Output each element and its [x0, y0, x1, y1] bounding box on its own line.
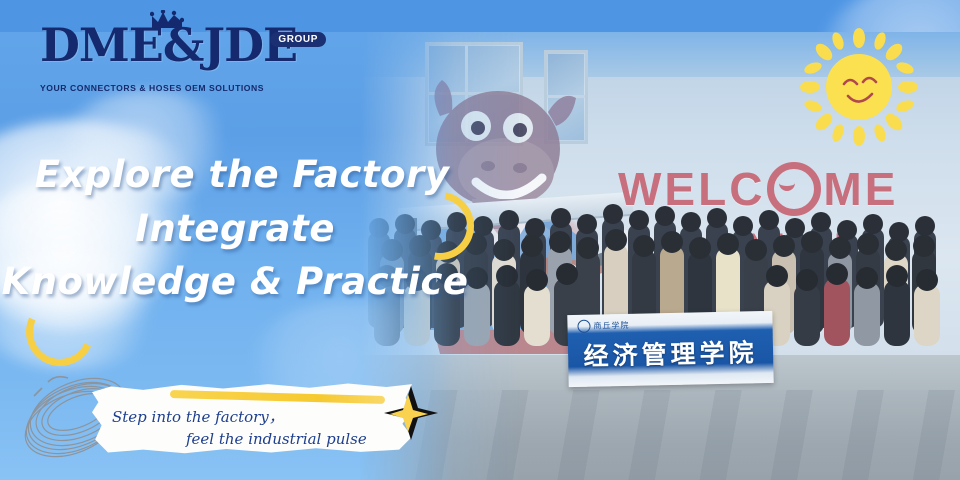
caption-line-1: Step into the factory， — [112, 406, 284, 427]
headline-line-3: Knowledge & Practice — [0, 255, 470, 309]
promo-banner: WELCME Mr.NiU NiU — [0, 0, 960, 480]
headline: Explore the Factory Integrate Knowledge … — [0, 148, 470, 309]
sun-icon — [800, 28, 918, 146]
headline-line-2: Integrate — [0, 202, 470, 256]
school-name-text: 商丘学院 — [593, 320, 629, 332]
group-badge: GROUP — [270, 32, 326, 47]
school-logo-label: 商丘学院 — [577, 319, 629, 333]
pavement-shadows — [360, 390, 960, 480]
headline-line-1: Explore the Factory — [0, 148, 470, 202]
group-photo-banner: 商丘学院 经济管理学院 — [567, 311, 773, 387]
logo-tagline: YOUR CONNECTORS & HOSES OEM SOLUTIONS — [40, 83, 310, 93]
caption-line-2: feel the industrial pulse — [186, 430, 367, 448]
logo-mark: DME&JDE GROUP — [40, 22, 310, 80]
company-logo[interactable]: DME&JDE GROUP YOUR CONNECTORS & HOSES OE… — [40, 22, 310, 112]
school-emblem-icon — [577, 320, 590, 333]
crown-icon — [150, 10, 184, 30]
caption-banner: Step into the factory， feel the industri… — [92, 382, 412, 454]
banner-main-text: 经济管理学院 — [568, 333, 774, 373]
sparkle-star-icon — [378, 382, 440, 444]
